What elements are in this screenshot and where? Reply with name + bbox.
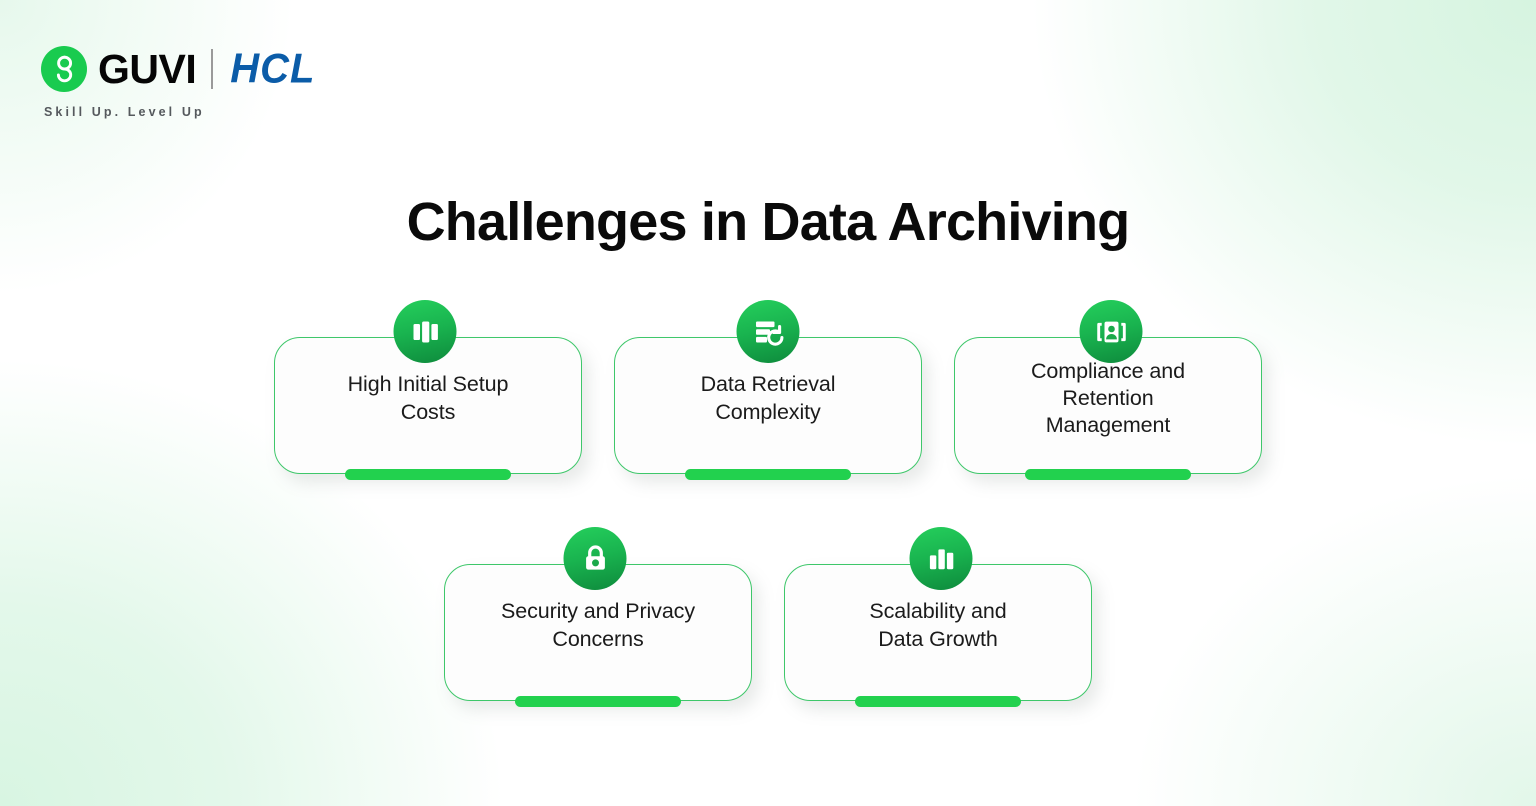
card-slot: High Initial Setup Costs — [274, 300, 582, 474]
guvi-g-mark-icon — [41, 46, 87, 92]
archive-bars-icon — [394, 300, 457, 363]
guvi-wordmark: GUVI — [98, 49, 196, 90]
brand-lockup: GUVI HCL Skill Up. Level Up — [41, 42, 315, 119]
card-row-bottom: Security and Privacy Concerns Scalabilit… — [0, 527, 1536, 701]
id-badge-icon — [1080, 300, 1143, 363]
card-accent-bar — [1025, 469, 1191, 480]
bar-chart-icon — [910, 527, 973, 590]
card-slot: Scalability and Data Growth — [784, 527, 1092, 701]
card-title: High Initial Setup Costs — [348, 371, 509, 426]
card-title: Compliance and Retention Management — [1031, 358, 1185, 440]
card-accent-bar — [855, 696, 1021, 707]
hcl-wordmark: HCL — [230, 48, 315, 90]
card-title: Scalability and Data Growth — [869, 598, 1006, 653]
card-row-top: High Initial Setup Costs Data Retrieval … — [0, 300, 1536, 474]
card-title: Security and Privacy Concerns — [501, 598, 695, 653]
card-slot: Data Retrieval Complexity — [614, 300, 922, 474]
brand-tagline: Skill Up. Level Up — [44, 105, 205, 119]
brand-logo-row: GUVI HCL — [41, 42, 315, 96]
card-accent-bar — [515, 696, 681, 707]
slide-stage: GUVI HCL Skill Up. Level Up Challenges i… — [0, 0, 1536, 806]
page-title: Challenges in Data Archiving — [0, 191, 1536, 253]
card-accent-bar — [685, 469, 851, 480]
padlock-icon — [564, 527, 627, 590]
card-accent-bar — [345, 469, 511, 480]
database-refresh-icon — [737, 300, 800, 363]
card-slot: Security and Privacy Concerns — [444, 527, 752, 701]
card-slot: Compliance and Retention Management — [954, 300, 1262, 474]
card-title: Data Retrieval Complexity — [701, 371, 836, 426]
brand-divider — [211, 49, 213, 89]
